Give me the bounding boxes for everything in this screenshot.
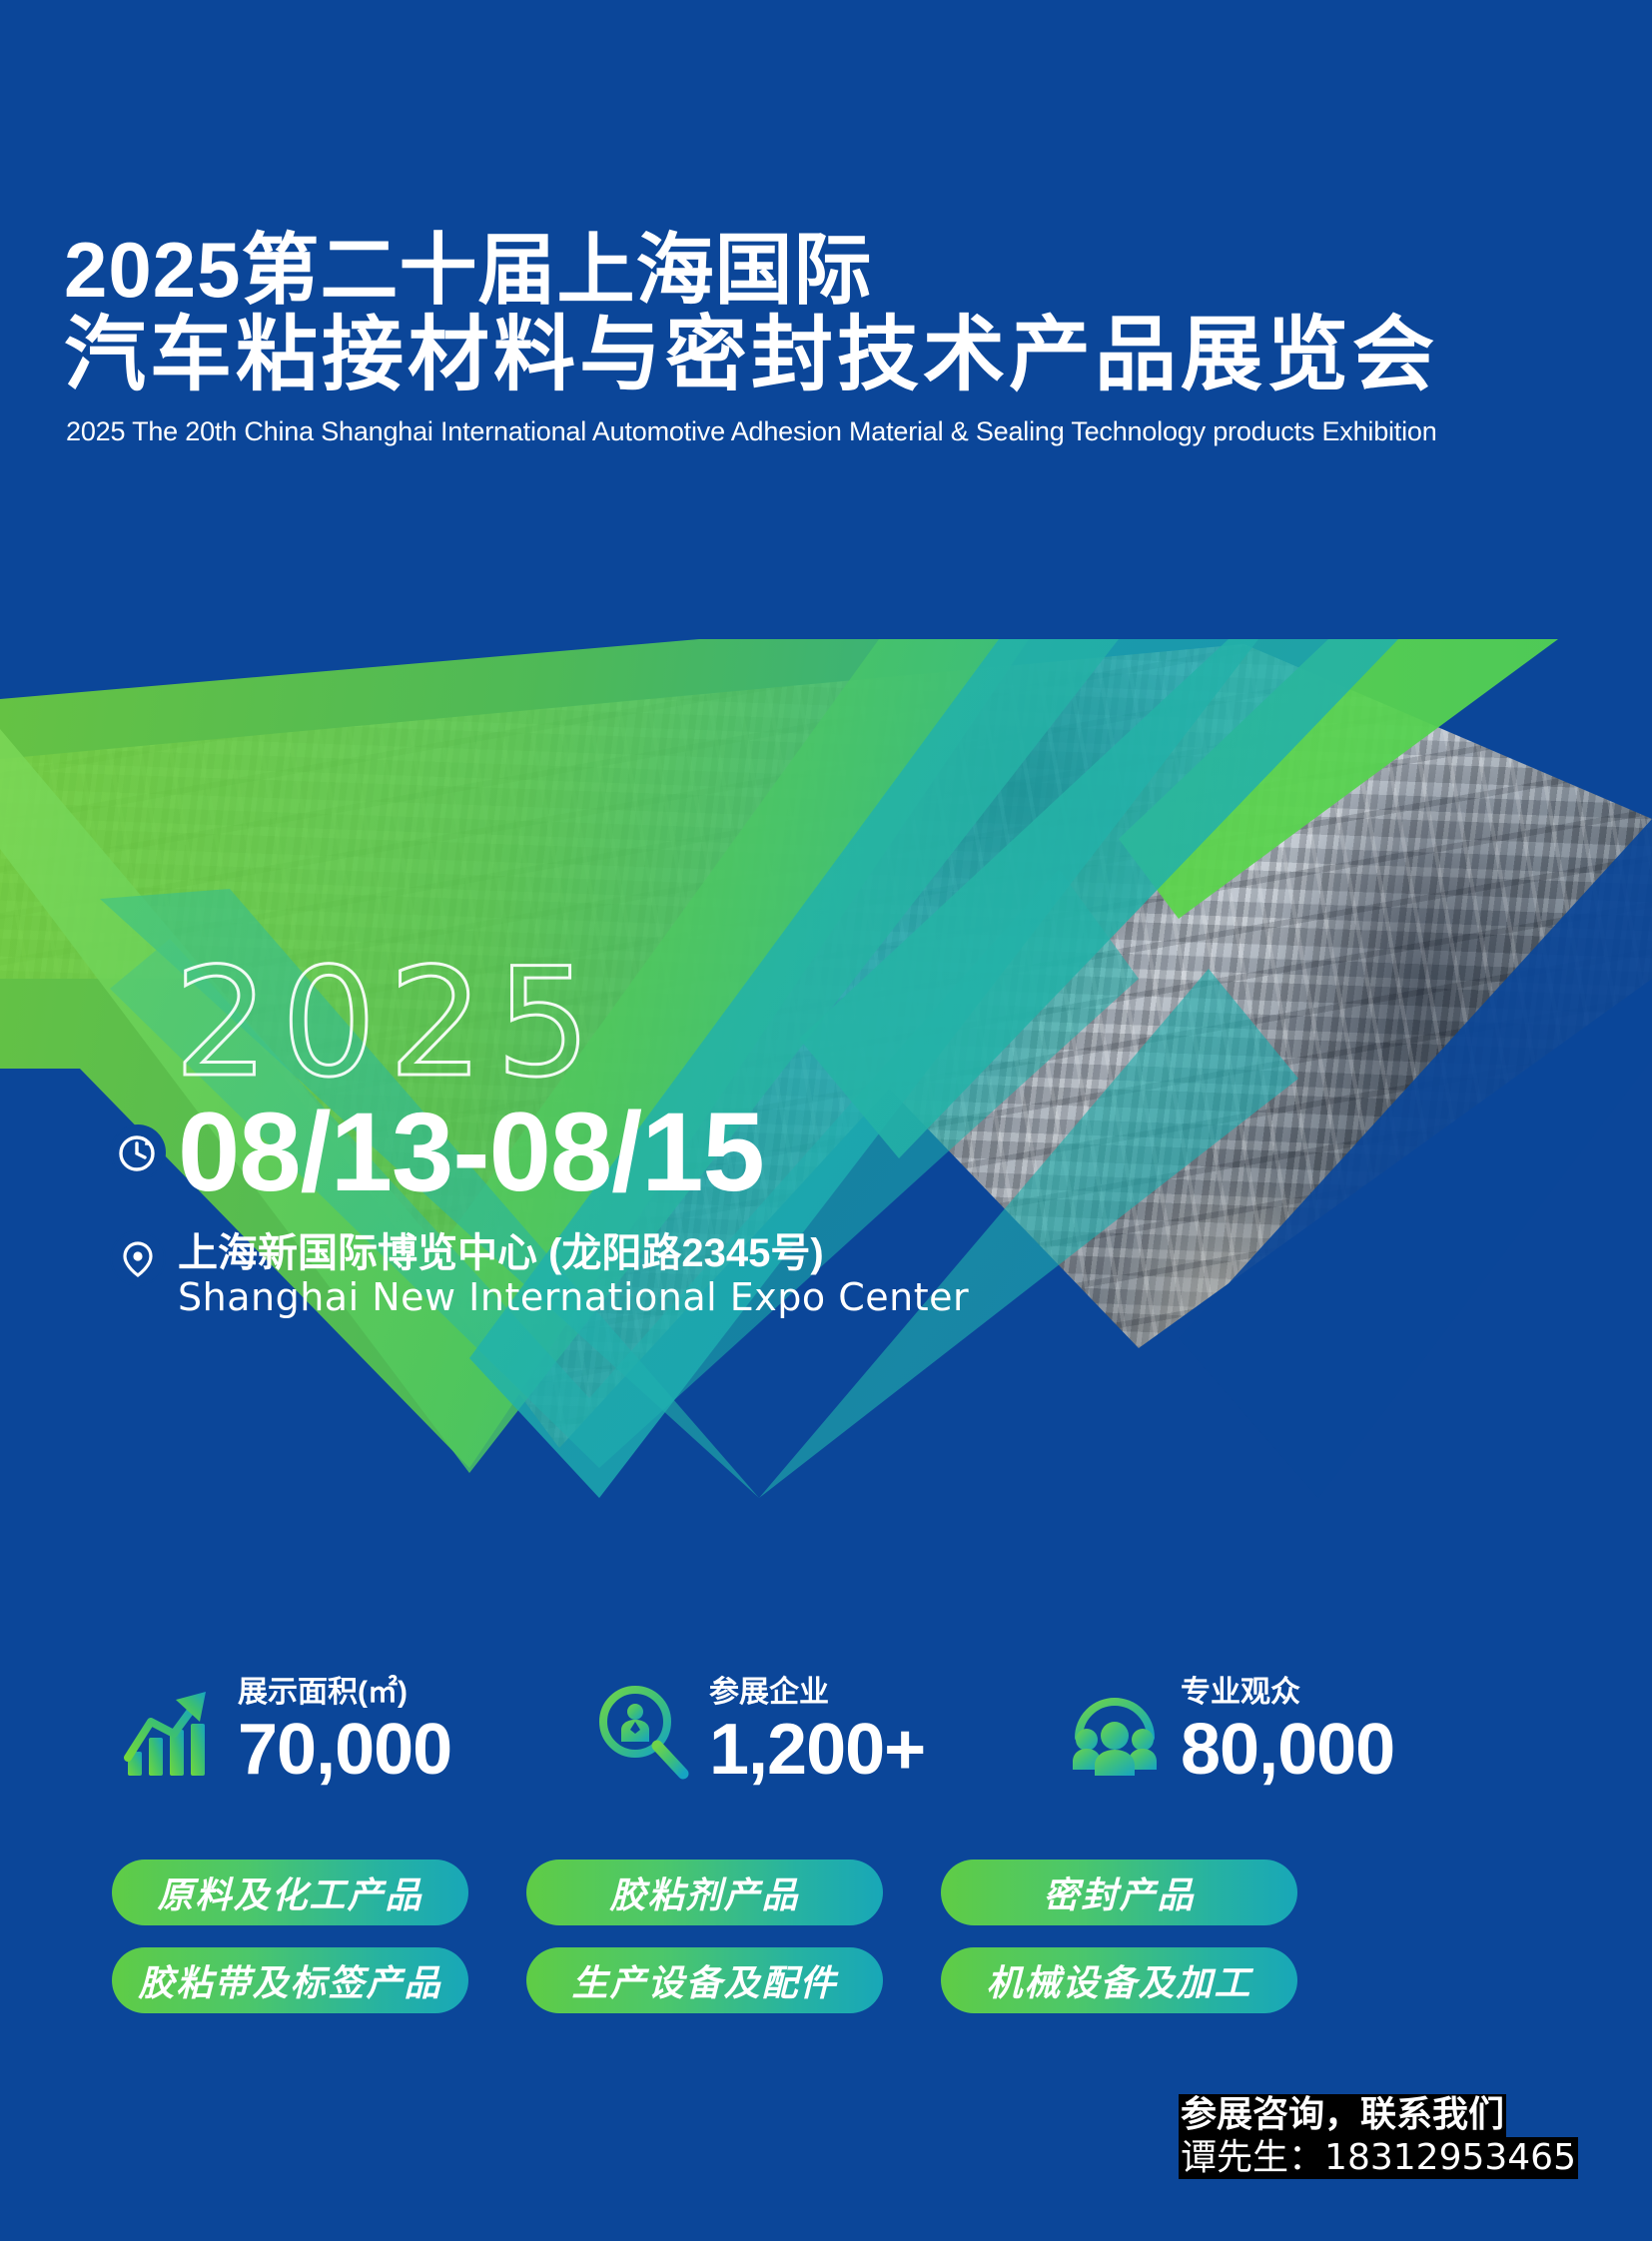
event-date-venue-block: 2025 08/13-08/15 上海新国 [110,949,969,1320]
clock-icon [110,1124,166,1180]
event-venue-row: 上海新国际博览中心 (龙阳路2345号) Shanghai New Intern… [110,1230,969,1320]
event-year-outline: 2025 [174,949,969,1099]
contact-phone: 谭先生：18312953465 [1179,2137,1578,2179]
stat-label: 参展企业 [709,1678,925,1708]
event-date-row: 08/13-08/15 [110,1097,969,1208]
stat-exhibition-area: 展示面积(㎡) 70,000 [120,1678,591,1786]
event-venue-chinese: 上海新国际博览中心 (龙阳路2345号) [178,1230,969,1276]
stat-visitors: 专业观众 80,000 [1063,1678,1534,1786]
contact-block: 参展咨询，联系我们 谭先生：18312953465 [1179,2094,1578,2179]
category-pill-row-2: 胶粘带及标签产品 生产设备及配件 机械设备及加工 [112,1947,1652,2013]
category-pill-row-1: 原料及化工产品 胶粘剂产品 密封产品 [112,1860,1652,1925]
category-pill[interactable]: 原料及化工产品 [112,1860,468,1925]
event-venue-texts: 上海新国际博览中心 (龙阳路2345号) Shanghai New Intern… [178,1230,969,1320]
category-pill[interactable]: 生产设备及配件 [526,1947,883,2013]
category-pills: 原料及化工产品 胶粘剂产品 密封产品 胶粘带及标签产品 生产设备及配件 机械设备… [0,1860,1652,2035]
event-venue-english: Shanghai New International Expo Center [178,1276,969,1320]
poster-header: 2025第二十届上海国际 汽车粘接材料与密封技术产品展览会 2025 The 2… [0,0,1652,447]
category-pill[interactable]: 胶粘带及标签产品 [112,1947,468,2013]
exhibition-poster: 2025第二十届上海国际 汽车粘接材料与密封技术产品展览会 2025 The 2… [0,0,1652,2241]
poster-title-line-1: 2025第二十届上海国际 [64,228,1652,312]
bar-chart-growth-icon [120,1680,224,1784]
category-pill[interactable]: 胶粘剂产品 [526,1860,883,1925]
stat-exhibitors: 参展企业 1,200+ [591,1678,1063,1786]
event-date-range: 08/13-08/15 [178,1097,764,1208]
stat-label: 专业观众 [1181,1678,1394,1708]
category-pill[interactable]: 密封产品 [941,1860,1297,1925]
exhibitor-search-icon [591,1680,695,1784]
stat-exhibitors-texts: 参展企业 1,200+ [709,1678,925,1786]
statistics-row: 展示面积(㎡) 70,000 [0,1678,1652,1786]
location-pin-icon [110,1230,166,1286]
contact-prompt: 参展咨询，联系我们 [1179,2094,1506,2136]
stat-visitors-texts: 专业观众 80,000 [1181,1678,1394,1786]
stat-value: 70,000 [238,1714,451,1786]
poster-title-line-2: 汽车粘接材料与密封技术产品展览会 [64,312,1652,400]
stat-label: 展示面积(㎡) [238,1678,451,1708]
stat-value: 80,000 [1181,1714,1394,1786]
audience-group-icon [1063,1680,1167,1784]
stat-exhibition-area-texts: 展示面积(㎡) 70,000 [238,1678,451,1786]
stat-value: 1,200+ [709,1714,925,1786]
category-pill[interactable]: 机械设备及加工 [941,1947,1297,2013]
poster-subtitle-english: 2025 The 20th China Shanghai Internation… [66,416,1652,447]
